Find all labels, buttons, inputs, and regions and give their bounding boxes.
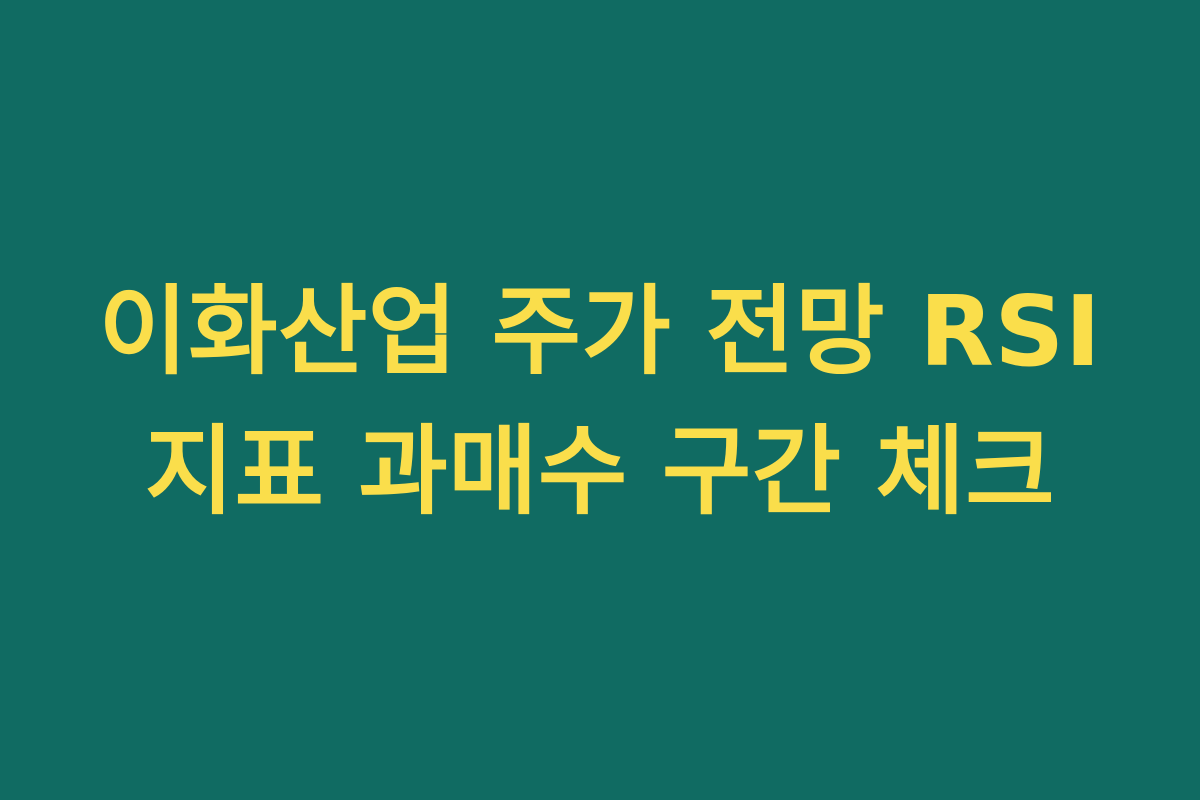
title-line-1: 이화산업 주가 전망 RSI bbox=[99, 262, 1102, 402]
title-line-2: 지표 과매수 구간 체크 bbox=[145, 402, 1055, 542]
thumbnail-canvas: 이화산업 주가 전망 RSI 지표 과매수 구간 체크 bbox=[0, 0, 1200, 800]
title-block: 이화산업 주가 전망 RSI 지표 과매수 구간 체크 bbox=[70, 262, 1130, 542]
